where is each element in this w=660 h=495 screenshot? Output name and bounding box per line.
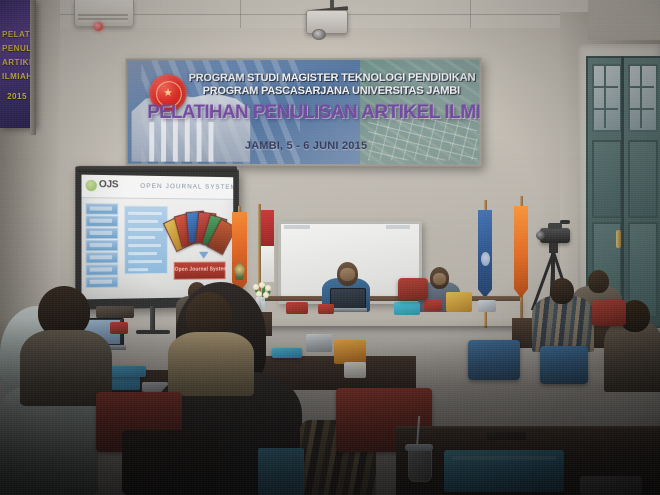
seminar-kit-fold [452,456,556,460]
slide-callout-box: Open Journal System [174,262,226,280]
chair-shadow-foreground [122,430,218,495]
ac-indicator-light [94,22,103,31]
slide-text-block [124,206,168,275]
red-prop-left [286,302,308,314]
side-banner-line-4: 2015 [2,92,32,101]
slide-nav-item-0 [86,203,119,214]
door-glass-left [592,64,622,132]
audience-body-right-near [604,322,660,392]
audience-head-right-far [588,270,609,293]
projection-screen-surface: OJS OPEN JOURNAL SYSTEM [81,175,233,300]
orange-bag-prop [334,340,366,364]
flag-blue-emblem-icon [481,252,490,266]
chair-red-right [592,300,626,326]
drink-cup [408,448,432,482]
camera-microphone-icon [560,220,570,224]
slide-nav-item-5 [86,264,119,275]
side-banner-line-3: ILMIAH [2,72,32,81]
ojs-logo-text: OJS [99,179,118,191]
grey-prop [478,300,496,312]
slide-title: OPEN JOURNAL SYSTEM [140,182,229,192]
door-center-split [621,56,624,324]
slide-nav-item-1 [86,216,119,227]
slide-nav-item-4 [86,252,119,263]
red-prop-right [424,300,442,311]
air-conditioner-vent [78,14,128,22]
slide-arrow-icon [199,252,209,259]
slide-nav-list [86,203,117,287]
projector-lens [312,29,326,40]
journal-covers-graphic [174,208,222,252]
red-cup-left [110,322,128,334]
side-banner-line-0: PELATIHAN [2,30,32,39]
banner-heading-line-1: PROGRAM STUDI MAGISTER TEKNOLOGI PENDIDI… [189,72,475,85]
camera-handle [548,223,562,229]
door-handle[interactable] [616,230,621,248]
ojs-logo-icon [86,180,97,191]
side-banner-line-2: ARTIKEL [2,58,32,67]
presenter-face [340,268,355,281]
slide-nav-item-3 [86,240,119,251]
blue-folder-middle [272,348,302,358]
audience-body-striped [532,296,594,352]
seal-star-icon: ★ [162,87,174,99]
phone-on-table [486,432,526,440]
side-banner-line-1: PENULISAN [2,44,32,53]
banner-heading-line-2: PROGRAM PASCASARJANA UNIVERSITAS JAMBI [189,85,475,97]
flag-orange-right [514,206,528,298]
chair-red-far [398,278,428,300]
whiteboard-label-right [386,225,410,229]
audience-body-khaki [168,332,254,396]
slide-callout-text: Open Journal System [175,266,225,272]
flag-orange-left [232,212,247,292]
chair-blue-right [468,340,520,380]
seminar-room-photo: PELATIHAN PENULISAN ARTIKEL ILMIAH 2015 … [0,0,660,495]
camera-lens-icon [536,231,545,240]
event-banner: ★ PROGRAM STUDI MAGISTER TEKNOLOGI PENDI… [126,58,482,167]
banner-title: PELATIHAN PENULISAN ARTIKEL ILMIAH [147,102,467,124]
screen-stand [150,306,155,332]
blue-bag-foreground [258,448,304,495]
door-mullion-v1 [604,64,606,128]
white-cup-prop [344,362,366,378]
banner-pole [30,0,36,135]
papers-bottom-right [580,476,642,495]
door-glass-right [628,64,658,132]
banner-date: JAMBI, 5 - 6 JUNI 2015 [167,140,447,152]
equipment-left [96,306,134,318]
teal-box-prop [394,302,420,315]
audience-head-striped [550,278,574,304]
flag-indonesia-white [261,246,274,282]
screen-feet [136,330,170,334]
chair-blue-right-2 [540,346,588,384]
door-mullion-v2 [640,64,642,128]
flag-indonesia-red [261,210,274,246]
presenter-2-face [433,273,446,285]
yellow-prop [446,292,472,312]
slide-nav-item-2 [86,228,119,239]
right-wall-upper [588,0,660,40]
projection-screen-roller [77,166,237,172]
slide-nav-item-6 [86,276,119,288]
white-box-prop [306,334,332,352]
door-panel-upper-right [628,140,658,218]
door-panel-upper-left [592,140,622,218]
red-prop-center [318,304,334,314]
drink-cup-lid [405,444,433,451]
whiteboard-label-left [284,225,310,229]
